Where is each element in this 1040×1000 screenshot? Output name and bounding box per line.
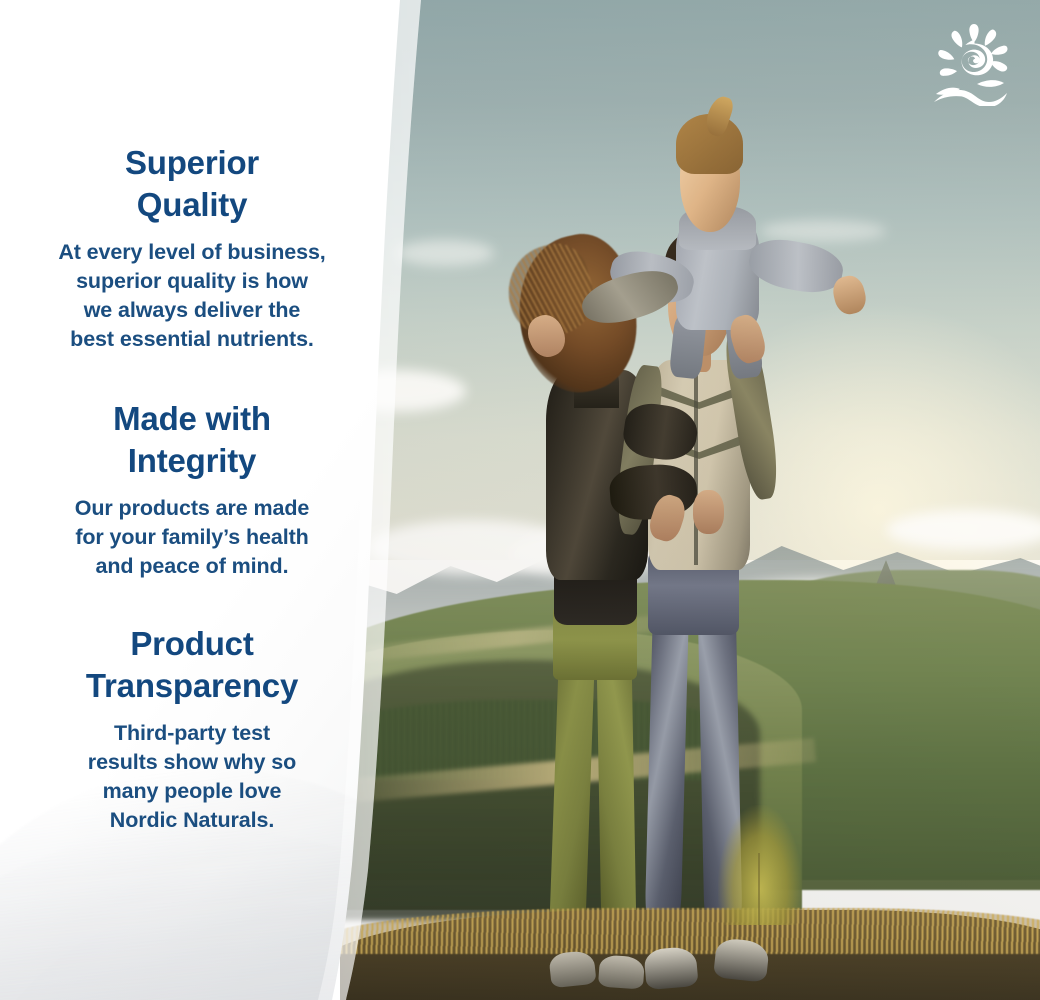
body-line: and peace of mind. — [22, 552, 362, 581]
value-prop-body: At every level of business, superior qua… — [22, 238, 362, 354]
value-prop-heading: Product Transparency — [22, 623, 362, 707]
sun-wave-logo-icon — [928, 22, 1020, 106]
heading-line: Transparency — [22, 665, 362, 707]
body-line: results show why so — [22, 748, 362, 777]
body-line: Our products are made — [22, 494, 362, 523]
heading-line: Product — [22, 623, 362, 665]
value-prop-body: Our products are made for your family’s … — [22, 494, 362, 581]
hero-photo — [340, 0, 1040, 1000]
heading-line: Made with — [22, 398, 362, 440]
heading-line: Integrity — [22, 440, 362, 482]
body-line: best essential nutrients. — [22, 325, 362, 354]
value-prop-made-with-integrity: Made with Integrity Our products are mad… — [22, 398, 362, 581]
value-prop-heading: Made with Integrity — [22, 398, 362, 482]
value-prop-heading: Superior Quality — [22, 142, 362, 226]
body-line: we always deliver the — [22, 296, 362, 325]
body-line: At every level of business, — [22, 238, 362, 267]
body-line: Nordic Naturals. — [22, 806, 362, 835]
heading-line: Superior — [22, 142, 362, 184]
value-prop-body: Third-party test results show why so man… — [22, 719, 362, 835]
promo-banner: Superior Quality At every level of busin… — [0, 0, 1040, 1000]
heading-line: Quality — [22, 184, 362, 226]
body-line: for your family’s health — [22, 523, 362, 552]
body-line: Third-party test — [22, 719, 362, 748]
body-line: many people love — [22, 777, 362, 806]
value-prop-product-transparency: Product Transparency Third-party test re… — [22, 623, 362, 835]
body-line: superior quality is how — [22, 267, 362, 296]
photo-scene — [340, 0, 1040, 1000]
value-prop-superior-quality: Superior Quality At every level of busin… — [22, 142, 362, 354]
photo-color-grade — [340, 0, 1040, 1000]
value-props: Superior Quality At every level of busin… — [0, 0, 400, 1000]
